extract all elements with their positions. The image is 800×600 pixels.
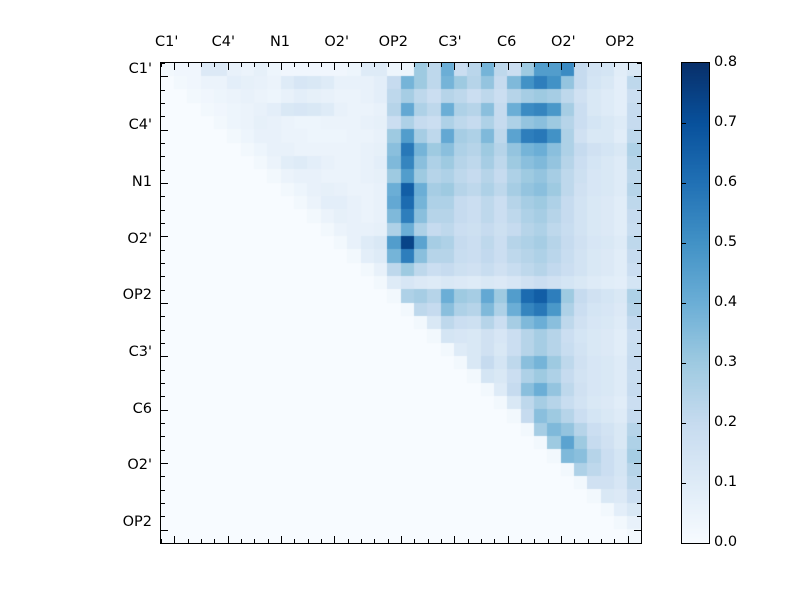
- colorbar-tick: [682, 363, 686, 364]
- colorbar-tick: [682, 123, 686, 124]
- yaxis-tick-label: C4': [129, 117, 152, 133]
- colorbar-tick: [682, 183, 686, 184]
- xaxis-tick-label: OP2: [379, 34, 408, 50]
- colorbar-tick: [682, 423, 686, 424]
- colorbar-tick-label: 0.2: [714, 414, 737, 430]
- yaxis-tick-label: C1': [129, 61, 152, 77]
- xaxis-tick-label: C6: [497, 34, 516, 50]
- xaxis-tick-label: C4': [212, 34, 235, 50]
- xaxis-tick-label: C3': [438, 34, 461, 50]
- heatmap-axes[interactable]: [160, 62, 642, 544]
- colorbar-gradient: [682, 63, 709, 543]
- colorbar-tick-label: 0.6: [714, 174, 737, 190]
- yaxis-tick-label: OP2: [123, 287, 152, 303]
- xaxis-tick-label: C1': [155, 34, 178, 50]
- colorbar[interactable]: [681, 62, 710, 544]
- colorbar-tick: [682, 483, 686, 484]
- colorbar-tick-label: 0.0: [714, 534, 737, 550]
- colorbar-tick-label: 0.5: [714, 234, 737, 250]
- yaxis-tick-label: C6: [133, 401, 152, 417]
- yaxis-tick-label: O2': [127, 231, 152, 247]
- heatmap-grid[interactable]: [161, 63, 641, 543]
- yaxis-tick-label: N1: [132, 174, 152, 190]
- colorbar-tick-label: 0.7: [714, 114, 737, 130]
- colorbar-tick: [682, 243, 686, 244]
- colorbar-tick-label: 0.1: [714, 474, 737, 490]
- yaxis-tick-label: OP2: [123, 514, 152, 530]
- figure-canvas: C1'C4'N1O2'OP2C3'C6O2'OP2 C1'C4'N1O2'OP2…: [0, 0, 800, 600]
- colorbar-tick-label: 0.8: [714, 54, 737, 70]
- colorbar-tick-label: 0.3: [714, 354, 737, 370]
- xaxis-tick-label: O2': [551, 34, 576, 50]
- xaxis-tick-label: O2': [324, 34, 349, 50]
- yaxis-tick-label: C3': [129, 344, 152, 360]
- xaxis-tick-label: N1: [270, 34, 290, 50]
- colorbar-tick-label: 0.4: [714, 294, 737, 310]
- yaxis-tick-label: O2': [127, 457, 152, 473]
- xaxis-tick-label: OP2: [605, 34, 634, 50]
- colorbar-tick: [682, 303, 686, 304]
